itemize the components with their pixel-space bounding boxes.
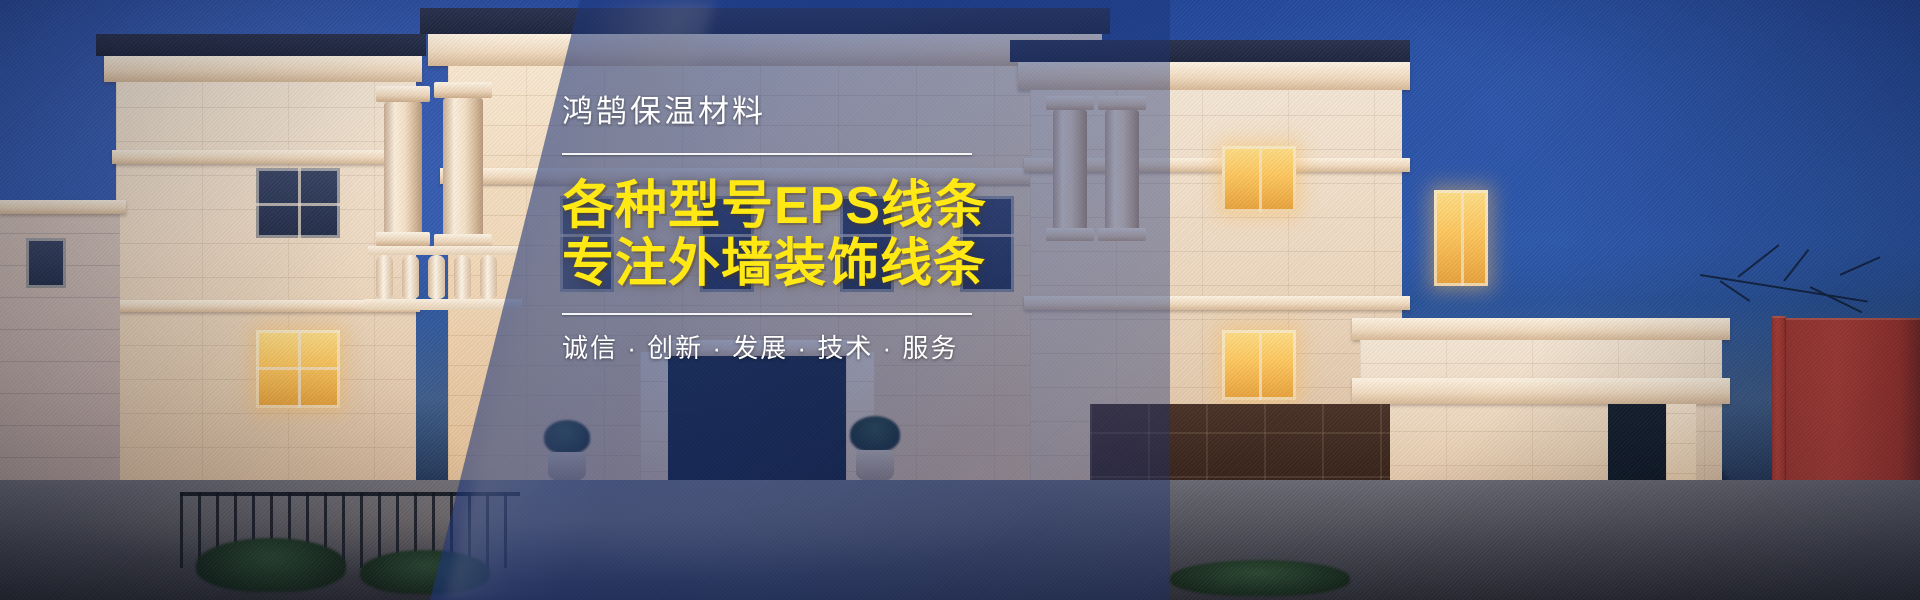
divider-bottom	[562, 313, 972, 315]
headline-line-2: 专注外墙装饰线条	[562, 235, 1032, 293]
planter-left	[540, 424, 592, 480]
brand-name: 鸿鹄保温材料	[562, 96, 1032, 127]
center-balustrade	[370, 255, 516, 299]
left-wing-cornice	[104, 56, 422, 82]
headline-block: 各种型号EPS线条 专注外墙装饰线条	[562, 177, 1032, 293]
left-window-lower	[256, 330, 340, 408]
left-wing-roof	[96, 34, 426, 56]
foreground-shrub-right	[1170, 560, 1350, 596]
planter-right	[846, 420, 902, 480]
far-left-building-cornice	[0, 200, 126, 214]
right-wing-band-2	[1024, 296, 1410, 310]
right-window-upper-2	[1434, 190, 1488, 286]
headline-line-1: 各种型号EPS线条	[562, 177, 1032, 235]
center-roof	[420, 8, 1110, 34]
center-cornice	[428, 34, 1102, 66]
promo-banner: 鸿鹄保温材料 各种型号EPS线条 专注外墙装饰线条 诚信 · 创新 · 发展 ·…	[0, 0, 1920, 600]
foreground-shrub-left	[196, 538, 346, 592]
garage-cornice-top	[1352, 318, 1730, 340]
garage-lintel	[1352, 378, 1730, 404]
banner-copy: 鸿鹄保温材料 各种型号EPS线条 专注外墙装饰线条 诚信 · 创新 · 发展 ·…	[562, 96, 1032, 361]
left-wing-band	[112, 150, 420, 164]
right-window-upper-1	[1222, 146, 1296, 212]
right-wing-cornice	[1018, 62, 1410, 90]
tagline: 诚信 · 创新 · 发展 · 技术 · 服务	[562, 335, 1032, 361]
far-left-window	[26, 238, 66, 288]
divider-top	[562, 153, 972, 155]
main-entrance	[666, 352, 848, 500]
right-window-lower	[1222, 330, 1296, 400]
left-window-upper	[256, 168, 340, 238]
center-balustrade-base	[364, 299, 522, 310]
right-wing-roof	[1010, 40, 1410, 62]
center-balustrade-rail	[368, 246, 518, 255]
foreground-shrub-mid	[360, 550, 490, 594]
